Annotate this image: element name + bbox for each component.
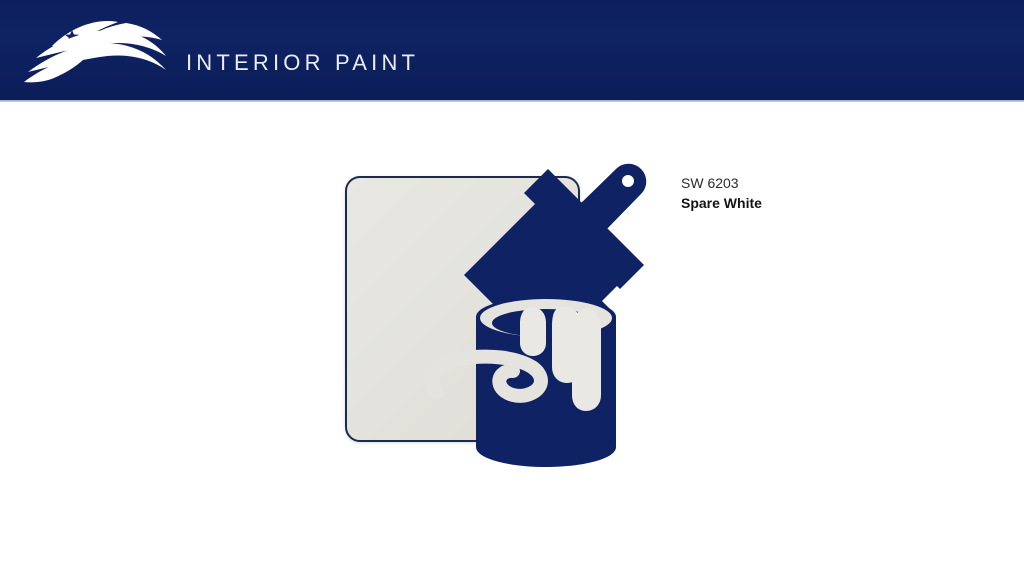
main-stage: SW 6203 Spare White (0, 102, 1024, 575)
swatch-name: Spare White (681, 193, 921, 213)
app-header: INTERIOR PAINT (0, 0, 1024, 102)
page-title: INTERIOR PAINT (186, 52, 419, 74)
swatch-labels: SW 6203 Spare White (681, 174, 921, 213)
swatch-code: SW 6203 (681, 174, 921, 193)
color-swatch[interactable] (345, 176, 580, 442)
flag-swoosh-logo-icon (14, 12, 174, 90)
